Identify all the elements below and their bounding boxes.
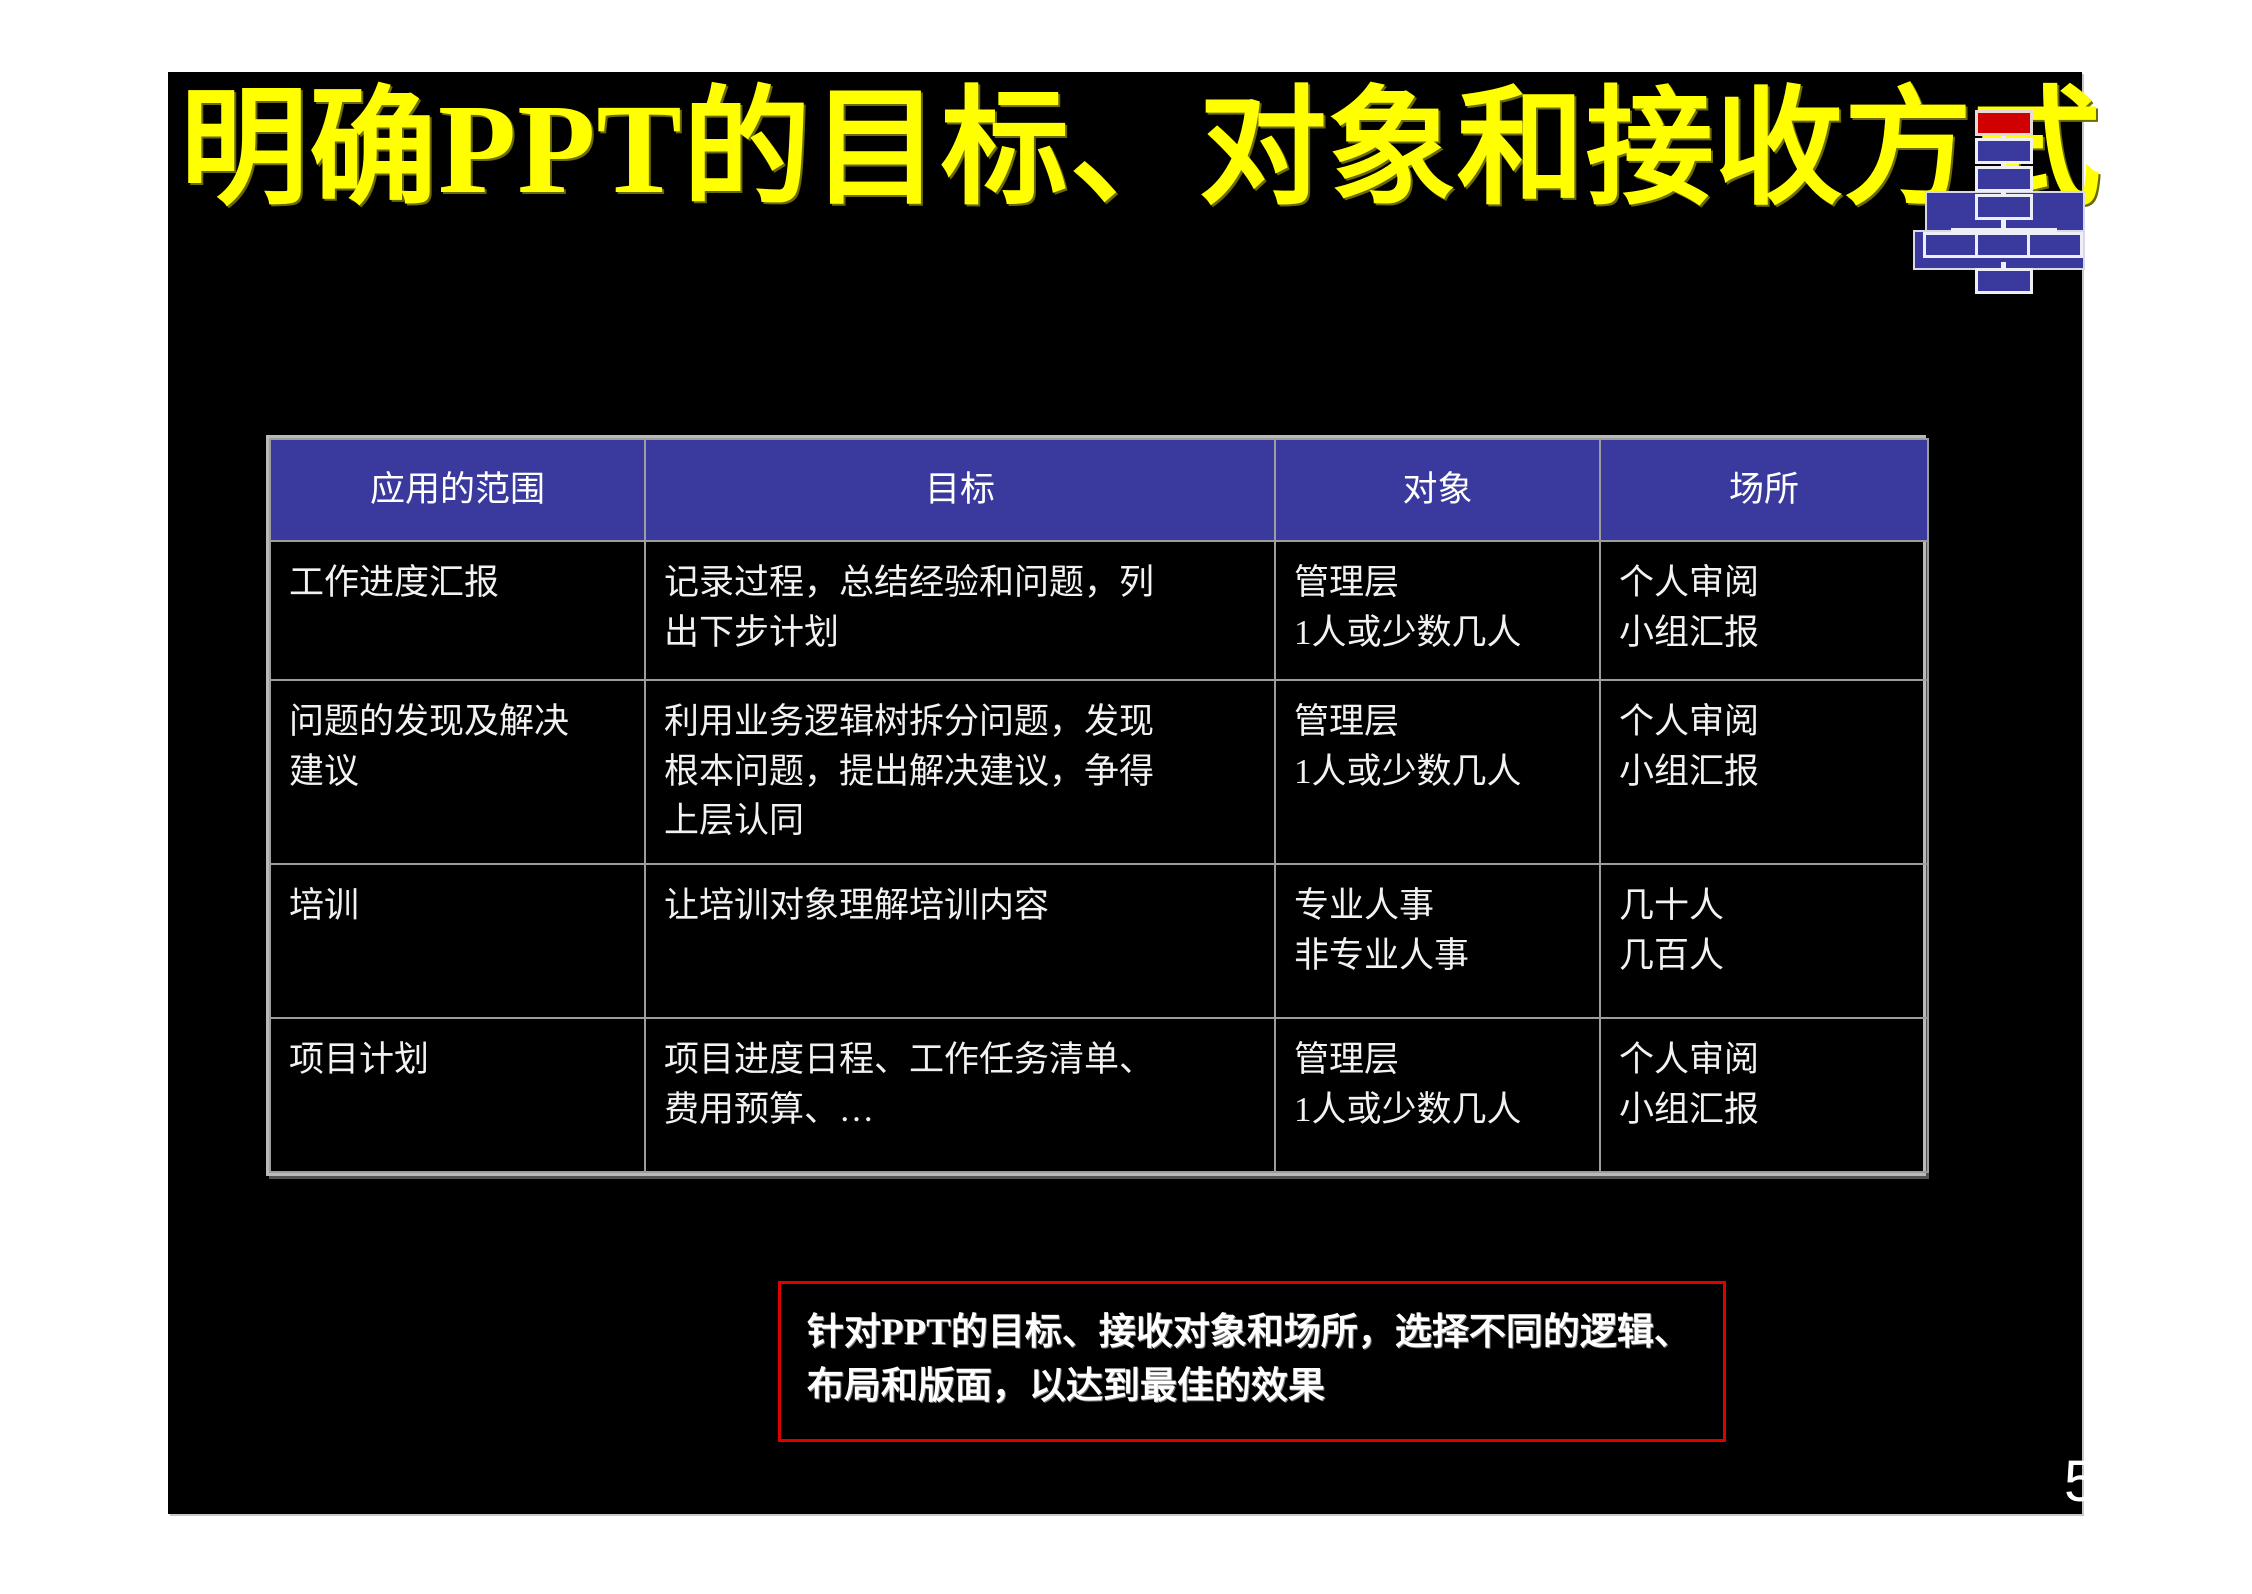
summary-callout-box: 针对PPT的目标、接收对象和场所，选择不同的逻辑、 布局和版面，以达到最佳的效果 xyxy=(778,1281,1726,1442)
logo-box-3 xyxy=(1975,166,2033,192)
cell-scope: 问题的发现及解决 建议 xyxy=(270,680,645,864)
logo-box-5-left xyxy=(1923,232,1979,258)
cell-line: 1人或少数几人 xyxy=(1294,747,1583,797)
table-row: 培训 让培训对象理解培训内容 专业人事 非专业人事 几十人 几百人 xyxy=(270,864,1928,1018)
cell-line: 培训 xyxy=(289,881,628,931)
cell-goal: 记录过程，总结经验和问题，列 出下步计划 xyxy=(645,541,1275,680)
cell-line: 小组汇报 xyxy=(1619,1085,1911,1135)
logo-box-5-center xyxy=(1975,232,2031,258)
cell-scope: 工作进度汇报 xyxy=(270,541,645,680)
cell-line: 小组汇报 xyxy=(1619,747,1911,797)
cell-line: 小组汇报 xyxy=(1619,608,1911,658)
page-number: 5 xyxy=(2064,1453,2096,1511)
cell-scope: 培训 xyxy=(270,864,645,1018)
cell-audience: 管理层 1人或少数几人 xyxy=(1275,541,1600,680)
cell-line: 根本问题，提出解决建议，争得 xyxy=(664,747,1258,797)
cell-line: 上层认同 xyxy=(664,796,1258,846)
cell-line: 专业人事 xyxy=(1294,881,1583,931)
cell-line: 记录过程，总结经验和问题，列 xyxy=(664,558,1258,608)
cell-line: 利用业务逻辑树拆分问题，发现 xyxy=(664,697,1258,747)
cell-line: 几十人 xyxy=(1619,881,1911,931)
cell-goal: 让培训对象理解培训内容 xyxy=(645,864,1275,1018)
cell-audience: 管理层 1人或少数几人 xyxy=(1275,680,1600,864)
page-title: 明确PPT的目标、对象和接收方式 xyxy=(180,82,1860,216)
col-header-venue: 场所 xyxy=(1600,439,1928,541)
org-chart-logo-icon xyxy=(1925,102,2085,302)
col-header-scope: 应用的范围 xyxy=(270,439,645,541)
cell-line: 1人或少数几人 xyxy=(1294,608,1583,658)
cell-venue: 个人审阅 小组汇报 xyxy=(1600,680,1928,864)
cell-line: 问题的发现及解决 xyxy=(289,697,628,747)
slide-canvas: 明确PPT的目标、对象和接收方式 xyxy=(168,72,2082,1514)
logo-box-top-red xyxy=(1975,110,2033,136)
cell-line: 非专业人事 xyxy=(1294,931,1583,981)
scope-table: 应用的范围 目标 对象 场所 工作进度汇报 记录过程，总结经验和问题，列 出下步… xyxy=(269,438,1929,1173)
cell-line: 项目进度日程、工作任务清单、 xyxy=(664,1035,1258,1085)
table-row: 工作进度汇报 记录过程，总结经验和问题，列 出下步计划 管理层 1人或少数几人 … xyxy=(270,541,1928,680)
cell-line: 个人审阅 xyxy=(1619,697,1911,747)
slide-page: 明确PPT的目标、对象和接收方式 xyxy=(0,0,2252,1594)
cell-line: 个人审阅 xyxy=(1619,1035,1911,1085)
cell-line: 让培训对象理解培训内容 xyxy=(664,881,1258,931)
col-header-goal: 目标 xyxy=(645,439,1275,541)
cell-line: 管理层 xyxy=(1294,558,1583,608)
table-header-row: 应用的范围 目标 对象 场所 xyxy=(270,439,1928,541)
cell-audience: 管理层 1人或少数几人 xyxy=(1275,1018,1600,1172)
cell-line: 出下步计划 xyxy=(664,608,1258,658)
cell-line: 建议 xyxy=(289,747,628,797)
logo-box-2 xyxy=(1975,138,2033,164)
cell-audience: 专业人事 非专业人事 xyxy=(1275,864,1600,1018)
cell-line: 费用预算、… xyxy=(664,1085,1258,1135)
logo-box-5-right xyxy=(2027,232,2083,258)
table-row: 项目计划 项目进度日程、工作任务清单、 费用预算、… 管理层 1人或少数几人 个… xyxy=(270,1018,1928,1172)
cell-scope: 项目计划 xyxy=(270,1018,645,1172)
callout-line-2: 布局和版面，以达到最佳的效果 xyxy=(807,1360,1697,1414)
cell-line: 管理层 xyxy=(1294,697,1583,747)
cell-venue: 个人审阅 小组汇报 xyxy=(1600,541,1928,680)
cell-line: 个人审阅 xyxy=(1619,558,1911,608)
cell-line: 工作进度汇报 xyxy=(289,558,628,608)
cell-line: 管理层 xyxy=(1294,1035,1583,1085)
cell-venue: 几十人 几百人 xyxy=(1600,864,1928,1018)
logo-box-4 xyxy=(1975,194,2033,220)
table-row: 问题的发现及解决 建议 利用业务逻辑树拆分问题，发现 根本问题，提出解决建议，争… xyxy=(270,680,1928,864)
cell-venue: 个人审阅 小组汇报 xyxy=(1600,1018,1928,1172)
cell-line: 项目计划 xyxy=(289,1035,628,1085)
callout-line-1: 针对PPT的目标、接收对象和场所，选择不同的逻辑、 xyxy=(807,1306,1697,1360)
cell-line: 几百人 xyxy=(1619,931,1911,981)
cell-goal: 项目进度日程、工作任务清单、 费用预算、… xyxy=(645,1018,1275,1172)
col-header-audience: 对象 xyxy=(1275,439,1600,541)
logo-box-bottom xyxy=(1975,268,2033,294)
cell-line: 1人或少数几人 xyxy=(1294,1085,1583,1135)
cell-goal: 利用业务逻辑树拆分问题，发现 根本问题，提出解决建议，争得 上层认同 xyxy=(645,680,1275,864)
scope-table-wrapper: 应用的范围 目标 对象 场所 工作进度汇报 记录过程，总结经验和问题，列 出下步… xyxy=(266,435,1926,1176)
